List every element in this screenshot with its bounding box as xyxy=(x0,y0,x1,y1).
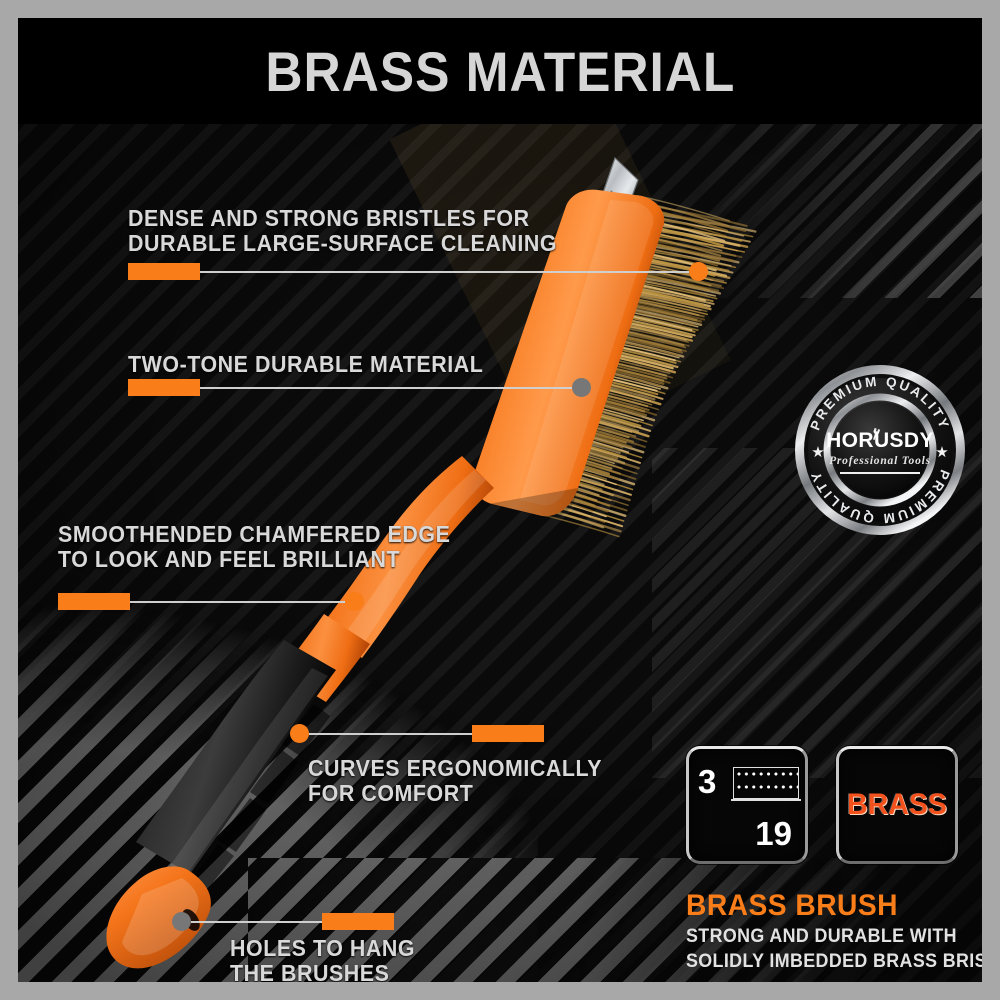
connector-bar-bristles xyxy=(128,263,200,280)
connector-line-chamfered-edge xyxy=(130,601,345,603)
connector-dot-ergonomic xyxy=(290,724,309,743)
spec-icon-bristle-rows: 3 19 xyxy=(686,746,808,864)
connector-line-hang-holes xyxy=(191,921,322,923)
bristle-grid-icon xyxy=(733,767,799,799)
connector-bristles xyxy=(128,262,708,281)
badge-divider xyxy=(840,472,920,474)
spec-columns-number: 19 xyxy=(755,815,792,853)
connector-dot-two-tone xyxy=(572,378,591,397)
star-icon-left: ★ xyxy=(811,444,824,461)
callout-ergonomic-line1: CURVES ERGONOMICALLY xyxy=(308,756,602,781)
connector-line-bristles xyxy=(200,271,689,273)
product-label-block: BRASS BRUSH STRONG AND DURABLE WITH SOLI… xyxy=(686,890,976,972)
callout-bristles-line1: DENSE AND STRONG BRISTLES FOR xyxy=(128,206,557,231)
connector-dot-chamfered-edge xyxy=(345,592,364,611)
product-label-sub-line2: SOLIDLY IMBEDDED BRASS BRISTLES xyxy=(686,951,959,972)
connector-dot-hang-holes xyxy=(172,912,191,931)
badge-brand-name: HORUSDY xyxy=(826,429,934,452)
badge-tagline: Professional Tools xyxy=(829,455,931,467)
connector-bar-hang-holes xyxy=(322,913,394,930)
diagonal-stripe-top-right xyxy=(682,108,982,298)
connector-hang-holes xyxy=(172,912,394,931)
callout-hang-holes-line1: HOLES TO HANG xyxy=(230,936,415,961)
spec-material-label: BRASS xyxy=(842,749,952,861)
product-label-title: BRASS BRUSH xyxy=(686,890,959,922)
callout-bristles-line2: DURABLE LARGE-SURFACE CLEANING xyxy=(128,231,557,256)
connector-dot-bristles xyxy=(689,262,708,281)
connector-bar-ergonomic xyxy=(472,725,544,742)
callout-chamfered-edge-line1: SMOOTHENDED CHAMFERED EDGE xyxy=(58,522,450,547)
connector-chamfered-edge xyxy=(58,592,364,611)
infographic-canvas: BRASS MATERIAL DENSE AND STRONG BRISTLES… xyxy=(18,18,982,982)
callout-bristles: DENSE AND STRONG BRISTLES FOR DURABLE LA… xyxy=(128,206,589,256)
connector-two-tone xyxy=(128,378,591,397)
spec-divider xyxy=(731,799,801,801)
star-icon-right: ★ xyxy=(935,444,948,461)
callout-hang-holes: HOLES TO HANG THE BRUSHES xyxy=(230,936,429,982)
connector-bar-chamfered-edge xyxy=(58,593,130,610)
callout-hang-holes-line2: THE BRUSHES xyxy=(230,961,415,982)
connector-line-ergonomic xyxy=(309,733,472,735)
callout-two-tone: TWO-TONE DURABLE MATERIAL xyxy=(128,352,510,377)
spec-rows-number: 3 xyxy=(698,763,716,801)
callout-chamfered-edge-line2: TO LOOK AND FEEL BRILLIANT xyxy=(58,547,450,572)
callout-ergonomic: CURVES ERGONOMICALLY FOR COMFORT xyxy=(308,756,624,806)
header-bar: BRASS MATERIAL xyxy=(18,18,982,124)
premium-quality-badge: PREMIUM QUALITY PREMIUM QUALITY ★ ★ HORU… xyxy=(794,364,966,536)
connector-ergonomic xyxy=(290,724,544,743)
connector-line-two-tone xyxy=(200,387,572,389)
page-title: BRASS MATERIAL xyxy=(265,39,735,104)
connector-bar-two-tone xyxy=(128,379,200,396)
infographic-frame: BRASS MATERIAL DENSE AND STRONG BRISTLES… xyxy=(0,0,1000,1000)
product-label-sub-line1: STRONG AND DURABLE WITH xyxy=(686,926,959,947)
callout-two-tone-line1: TWO-TONE DURABLE MATERIAL xyxy=(128,352,483,377)
callout-chamfered-edge: SMOOTHENDED CHAMFERED EDGE TO LOOK AND F… xyxy=(58,522,480,572)
callout-ergonomic-line2: FOR COMFORT xyxy=(308,781,602,806)
spec-icon-material: BRASS xyxy=(836,746,958,864)
